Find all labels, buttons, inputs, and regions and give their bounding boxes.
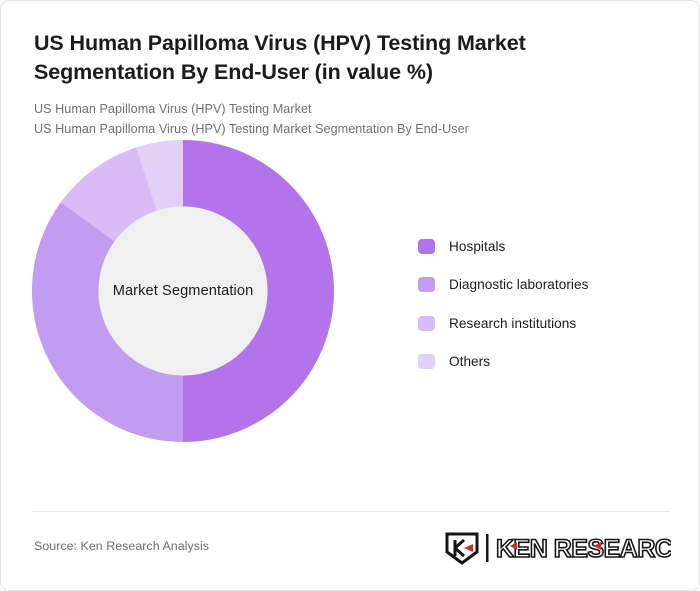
legend-swatch-icon bbox=[418, 239, 435, 254]
logo-wordmark: KEN RESEARCH bbox=[496, 535, 671, 563]
donut-svg bbox=[32, 140, 334, 442]
chart-header: US Human Papilloma Virus (HPV) Testing M… bbox=[1, 1, 699, 139]
legend-item[interactable]: Others bbox=[418, 343, 668, 382]
legend-swatch-icon bbox=[418, 354, 435, 369]
subtitle-line-2: US Human Papilloma Virus (HPV) Testing M… bbox=[34, 120, 665, 140]
legend-item-label: Hospitals bbox=[449, 239, 505, 254]
legend-item-label: Others bbox=[449, 354, 490, 369]
chart-legend: HospitalsDiagnostic laboratoriesResearch… bbox=[418, 227, 668, 381]
chart-footer: Source: Ken Research Analysis KEN RESEAR… bbox=[1, 525, 700, 573]
ken-research-logo-svg: KEN RESEARCH bbox=[443, 531, 671, 565]
legend-item[interactable]: Hospitals bbox=[418, 227, 668, 266]
donut-hole bbox=[98, 207, 267, 376]
chart-body: Market Segmentation HospitalsDiagnostic … bbox=[1, 139, 699, 469]
footer-divider bbox=[32, 511, 670, 512]
chart-card: US Human Papilloma Virus (HPV) Testing M… bbox=[0, 0, 700, 591]
subtitle-block: US Human Papilloma Virus (HPV) Testing M… bbox=[34, 100, 665, 139]
legend-item[interactable]: Diagnostic laboratories bbox=[418, 266, 668, 305]
shield-icon bbox=[447, 534, 477, 563]
donut-chart: Market Segmentation bbox=[32, 140, 334, 442]
svg-text:KEN RESEARCH: KEN RESEARCH bbox=[496, 535, 671, 563]
legend-swatch-icon bbox=[418, 316, 435, 331]
ken-research-logo: KEN RESEARCH bbox=[443, 529, 671, 567]
subtitle-line-1: US Human Papilloma Virus (HPV) Testing M… bbox=[34, 100, 665, 120]
page-title: US Human Papilloma Virus (HPV) Testing M… bbox=[34, 29, 619, 86]
logo-divider bbox=[486, 534, 489, 562]
legend-swatch-icon bbox=[418, 277, 435, 292]
source-text: Source: Ken Research Analysis bbox=[34, 539, 209, 553]
legend-item-label: Diagnostic laboratories bbox=[449, 277, 588, 292]
legend-item[interactable]: Research institutions bbox=[418, 304, 668, 343]
legend-item-label: Research institutions bbox=[449, 316, 576, 331]
